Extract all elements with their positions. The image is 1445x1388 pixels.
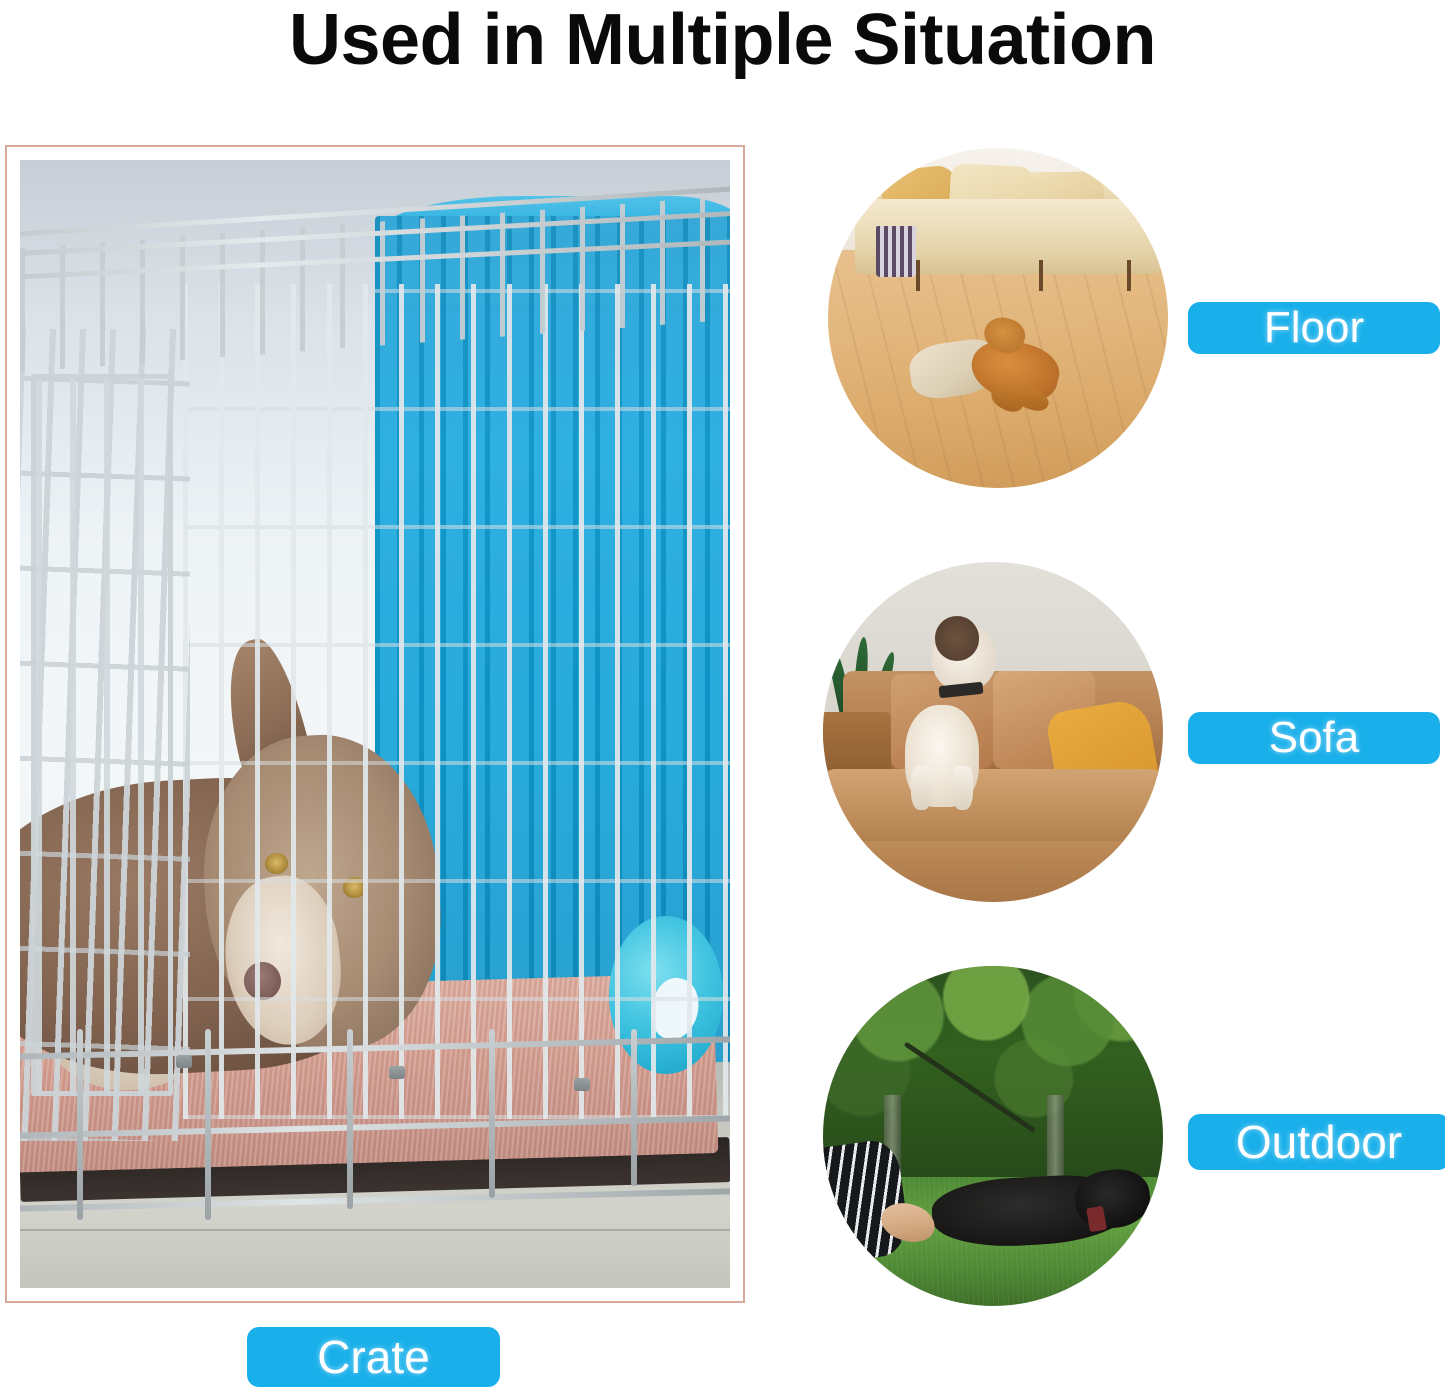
badge-sofa[interactable]: Sofa xyxy=(1188,712,1440,764)
crate-front-post-3 xyxy=(347,1029,353,1209)
scene-floor xyxy=(828,148,1168,488)
floor-scene-striped-bin xyxy=(876,226,917,277)
badge-sofa-label: Sofa xyxy=(1269,713,1360,763)
badge-outdoor-label: Outdoor xyxy=(1236,1115,1402,1169)
crate-clip-3 xyxy=(574,1078,590,1091)
scene-outdoor xyxy=(823,966,1163,1306)
crate-front-post-5 xyxy=(631,1029,637,1187)
floor-scene-sofa-leg-2 xyxy=(1039,260,1043,291)
crate-clip-2 xyxy=(389,1066,405,1079)
crate-front-post-4 xyxy=(489,1029,495,1198)
sofa-scene-dog-head-fur xyxy=(935,616,979,660)
floor-scene-sofa-leg-1 xyxy=(916,260,920,291)
badge-crate[interactable]: Crate xyxy=(247,1327,500,1387)
badge-outdoor[interactable]: Outdoor xyxy=(1188,1114,1445,1170)
badge-crate-label: Crate xyxy=(317,1330,429,1384)
crate-photo xyxy=(20,160,730,1288)
badge-floor-label: Floor xyxy=(1264,303,1364,353)
crate-back-wire-panel xyxy=(183,284,730,1119)
floor-scene-sofa-leg-3 xyxy=(1127,260,1131,291)
badge-floor[interactable]: Floor xyxy=(1188,302,1440,354)
sofa-scene-dog-leg-1 xyxy=(911,766,931,810)
outdoor-scene-tree-trunk-2 xyxy=(1047,1095,1064,1183)
sofa-scene-seat-front xyxy=(823,841,1163,902)
crate-front-post-2 xyxy=(205,1029,211,1221)
crate-top-rim xyxy=(20,205,730,340)
crate-clip-1 xyxy=(176,1055,192,1068)
crate-photo-frame xyxy=(5,145,745,1303)
page-title: Used in Multiple Situation xyxy=(0,0,1445,84)
scene-sofa xyxy=(823,562,1163,902)
sofa-scene-dog-leg-2 xyxy=(952,766,972,810)
crate-door-panel xyxy=(31,374,173,1096)
crate-front-post-1 xyxy=(77,1029,83,1221)
